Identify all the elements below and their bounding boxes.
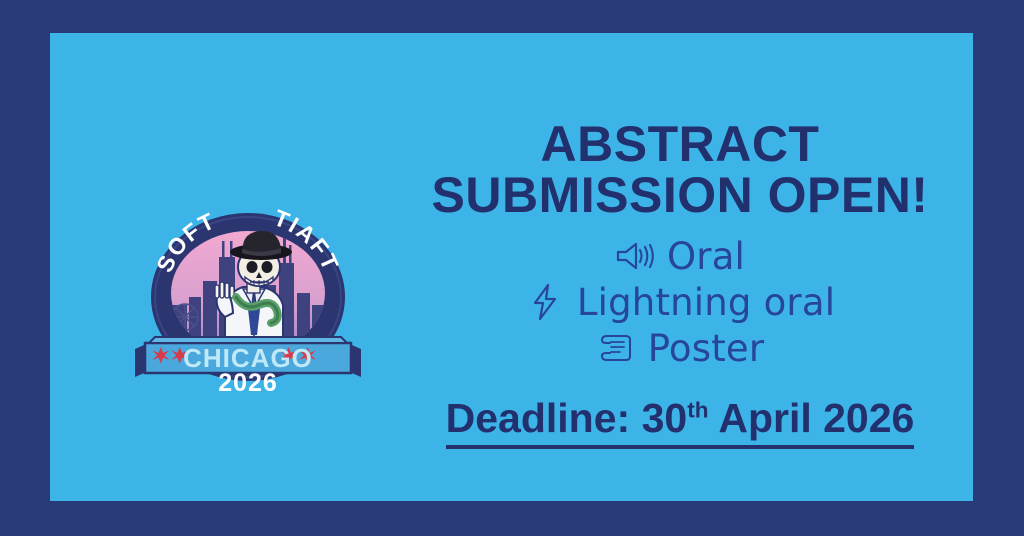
- poster-inner-panel: SOFT TIAFT: [50, 33, 973, 501]
- logo-year-label: 2026: [218, 369, 278, 396]
- list-item-lightning-oral: Lightning oral: [350, 279, 1010, 325]
- speaker-icon: [615, 236, 655, 276]
- list-item-poster: Poster: [350, 325, 1010, 371]
- presentation-modes-list: Oral Lightning oral: [350, 233, 1010, 371]
- poster-canvas: SOFT TIAFT: [0, 0, 1024, 536]
- deadline-text: Deadline: 30th April 2026: [446, 395, 915, 449]
- page-title: ABSTRACT SUBMISSION OPEN!: [350, 85, 1010, 221]
- list-item-oral: Oral: [350, 233, 1010, 279]
- deadline-ordinal-suffix: th: [687, 397, 708, 422]
- lightning-bolt-icon: [525, 282, 565, 322]
- mode-label-oral: Oral: [667, 238, 745, 275]
- mode-label-poster: Poster: [648, 330, 765, 367]
- deadline-suffix: April 2026: [708, 395, 914, 441]
- deadline-prefix: Deadline: 30: [446, 395, 688, 441]
- soft-tiaft-chicago-2026-logo: SOFT TIAFT: [133, 201, 363, 396]
- headline-line-1: ABSTRACT: [541, 116, 820, 172]
- headline-line-2: SUBMISSION OPEN!: [350, 170, 1010, 221]
- mode-label-lightning-oral: Lightning oral: [577, 284, 835, 321]
- announcement-content: ABSTRACT SUBMISSION OPEN! Oral: [350, 85, 1010, 485]
- scroll-icon: [596, 328, 636, 368]
